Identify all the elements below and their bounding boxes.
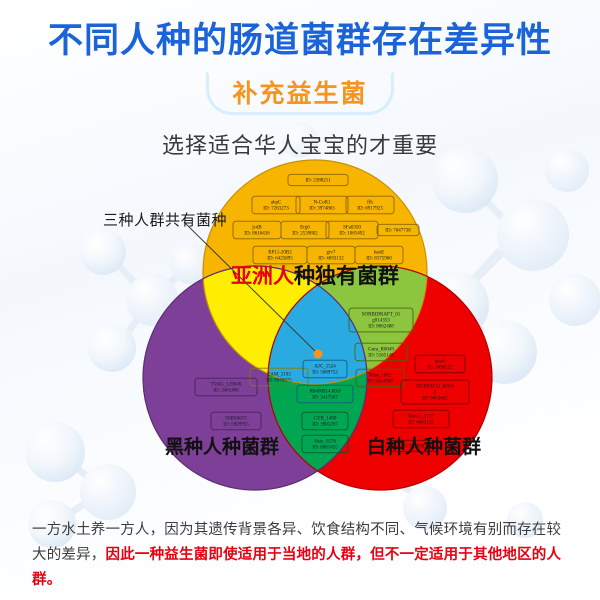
gene-label-text: Snas_0276ID: 8881455 <box>312 439 338 450</box>
annotation-shared-species: 三种人群共有菌种 <box>103 209 227 230</box>
gene-label-text: ID: 2388211 <box>305 179 331 184</box>
gene-label-text: SSPA0672ID: 6809955 <box>223 416 249 427</box>
footer-highlight-text: 因此一种益生菌即使适用于当地的人群，但不一定适用于其他地区的人群。 <box>32 547 561 588</box>
gene-label-text: Mmc1_3137ID: 4483132 <box>408 414 434 425</box>
page-subtitle: 选择适合华人宝宝的才重要 <box>0 128 600 160</box>
venn-label-caucasian: 白种人种菌群 <box>367 435 481 458</box>
badge-label: 补充益生菌 <box>232 80 367 108</box>
gene-label-text: AJC_1524ID: 5689752 <box>312 364 338 375</box>
gene-label-text: ID: 7647738 <box>385 229 411 234</box>
status-badge: 补充益生菌 <box>206 71 393 115</box>
venn-label-black: 黑种人种菌群 <box>165 435 279 458</box>
annotation-leader-dot <box>314 350 323 359</box>
gene-label-text: RP11-20B2ID: 6425895 <box>267 250 293 261</box>
gene-label-text: EAM_2103ID: 8949875 <box>266 372 292 383</box>
footer-note: 一方水土养一方人，因为其遗传背景各异、饮食结构不同、气候环境有别而存在较大的差异… <box>32 518 572 593</box>
badge-wrapper: 补充益生菌 <box>0 71 600 115</box>
gene-label-text: Ndas_1062ID: 9244908 <box>367 373 393 384</box>
gene-label-text: Gura_R0049ID: 5165148 <box>368 347 394 358</box>
gene-label-text: TVAG_129840ID: 3465406 <box>211 382 242 393</box>
page-title: 不同人种的肠道菌群存在差异性 <box>0 22 600 61</box>
header: 不同人种的肠道菌群存在差异性 补充益生菌 选择适合华人宝宝的才重要 <box>0 0 600 160</box>
gene-label-text: CYB_1400ID: 3901267 <box>312 416 338 427</box>
venn-label-asian: 亚洲人种独有菌群 <box>231 264 399 288</box>
gene-label-text: PB400914.00.0ID: 3417567 <box>309 389 341 400</box>
